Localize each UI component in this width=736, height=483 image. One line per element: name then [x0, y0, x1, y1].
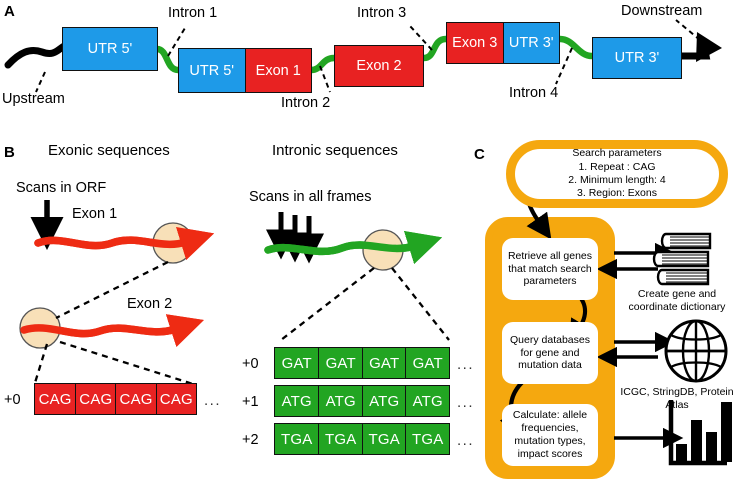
globe-icon: [666, 321, 726, 381]
ellipsis-exonic-0: ...: [204, 392, 221, 409]
leader-cag-right: [60, 342, 193, 384]
search-parameters-title: Search parameters: [572, 147, 661, 160]
search-parameters-box[interactable]: Search parameters 1. Repeat : CAG 2. Min…: [506, 140, 728, 208]
search-parameter-item-1: 1. Repeat : CAG: [578, 161, 655, 174]
block-exon3: Exon 3: [447, 23, 503, 63]
codon-cell: CAG: [156, 384, 196, 414]
ellipsis-intronic-1: ...: [457, 394, 474, 411]
codon-row-intronic-0: GAT GAT GAT GAT: [274, 347, 450, 379]
block-label: UTR 3': [615, 50, 660, 66]
codon-cell: GAT: [405, 348, 449, 378]
globe-icon-label: ICGC, StringDB, Protein Atlas: [618, 386, 736, 411]
step-text: Retrieve all genes that match search par…: [505, 250, 595, 288]
block-utr3-first: UTR 3': [503, 23, 560, 63]
block-label: Exon 2: [356, 58, 401, 74]
codon-cell: TGA: [318, 424, 362, 454]
codon-row-intronic-1: ATG ATG ATG ATG: [274, 385, 450, 417]
panel-b-left-title: Exonic sequences: [48, 143, 170, 158]
label-intron-4: Intron 4: [509, 86, 558, 101]
block-utr5-second: UTR 5': [179, 49, 245, 92]
ellipsis-intronic-2: ...: [457, 432, 474, 449]
block-exon1: Exon 1: [245, 49, 312, 92]
leader-intronic-right: [392, 268, 449, 340]
panel-b-letter: B: [4, 145, 15, 160]
label-scans-in-all-frames: Scans in all frames: [249, 190, 372, 205]
step-text: Calculate: allele frequencies, mutation …: [505, 409, 595, 460]
label-scans-in-orf: Scans in ORF: [16, 181, 106, 196]
codon-cell: TGA: [362, 424, 406, 454]
leader-intron2: [320, 66, 330, 92]
block-exon2: Exon 2: [334, 45, 424, 87]
step-calculate[interactable]: Calculate: allele frequencies, mutation …: [502, 404, 598, 466]
block-label: UTR 5': [88, 41, 133, 57]
label-upstream: Upstream: [2, 92, 65, 107]
codon-cell: CAG: [115, 384, 155, 414]
label-downstream: Downstream: [621, 4, 702, 19]
label-exon2-strand: Exon 2: [127, 297, 172, 312]
intron-2-strand: [311, 58, 334, 70]
search-parameter-item-2: 2. Minimum length: 4: [568, 174, 665, 187]
codon-cell: TGA: [275, 424, 318, 454]
frame-label-intronic-0: +0: [242, 356, 259, 372]
codon-cell: GAT: [362, 348, 406, 378]
label-intron-1: Intron 1: [168, 6, 217, 21]
exon2-junction-circle: [20, 308, 60, 348]
block-utr3-last: UTR 3': [592, 37, 682, 79]
block-group-exon3-utr3: Exon 3 UTR 3': [446, 22, 560, 64]
codon-cell: GAT: [275, 348, 318, 378]
label-intron-3: Intron 3: [357, 6, 406, 21]
ellipsis-intronic-0: ...: [457, 356, 474, 373]
intron-3-strand: [424, 39, 446, 58]
codon-cell: ATG: [318, 386, 362, 416]
upstream-strand: [8, 44, 68, 65]
codon-cell: TGA: [405, 424, 449, 454]
bar-1: [676, 444, 687, 462]
exon1-junction-circle: [153, 223, 193, 263]
step-retrieve[interactable]: Retrieve all genes that match search par…: [502, 238, 598, 300]
intron-1-strand: [157, 49, 178, 70]
intron-junction-circle: [363, 230, 403, 270]
label-exon1-strand: Exon 1: [72, 207, 117, 222]
leader-intronic-left: [281, 268, 374, 340]
search-parameter-item-3: 3. Region: Exons: [577, 187, 657, 200]
codon-row-exonic-0: CAG CAG CAG CAG: [34, 383, 197, 415]
frame-label-exonic-0: +0: [4, 392, 21, 408]
codon-cell: ATG: [275, 386, 318, 416]
panel-a-letter: A: [4, 4, 15, 19]
bar-3: [706, 432, 717, 462]
block-utr5-first: UTR 5': [62, 27, 158, 71]
codon-cell: CAG: [35, 384, 75, 414]
codon-cell: ATG: [405, 386, 449, 416]
codon-cell: ATG: [362, 386, 406, 416]
leader-cag-left: [34, 344, 47, 386]
frame-label-intronic-1: +1: [242, 394, 259, 410]
codon-row-intronic-2: TGA TGA TGA TGA: [274, 423, 450, 455]
codon-cell: CAG: [75, 384, 115, 414]
books-icon: [654, 234, 710, 284]
books-icon-label: Create gene and coordinate dictionary: [618, 288, 736, 313]
label-intron-2: Intron 2: [281, 96, 330, 111]
bar-2: [691, 420, 702, 462]
frame-label-intronic-2: +2: [242, 432, 259, 448]
leader-upstream: [36, 72, 45, 92]
block-group-utr5-exon1: UTR 5' Exon 1: [178, 48, 312, 93]
intron-4-strand: [560, 39, 592, 56]
codon-cell: GAT: [318, 348, 362, 378]
step-query[interactable]: Query databases for gene and mutation da…: [502, 322, 598, 384]
step-text: Query databases for gene and mutation da…: [505, 334, 595, 372]
panel-c-letter: C: [474, 147, 485, 162]
panel-b-right-title: Intronic sequences: [272, 143, 398, 158]
figure-canvas: A UTR 5' UTR 5' Exon 1 Exon 2 Exon 3 UTR…: [0, 0, 736, 483]
